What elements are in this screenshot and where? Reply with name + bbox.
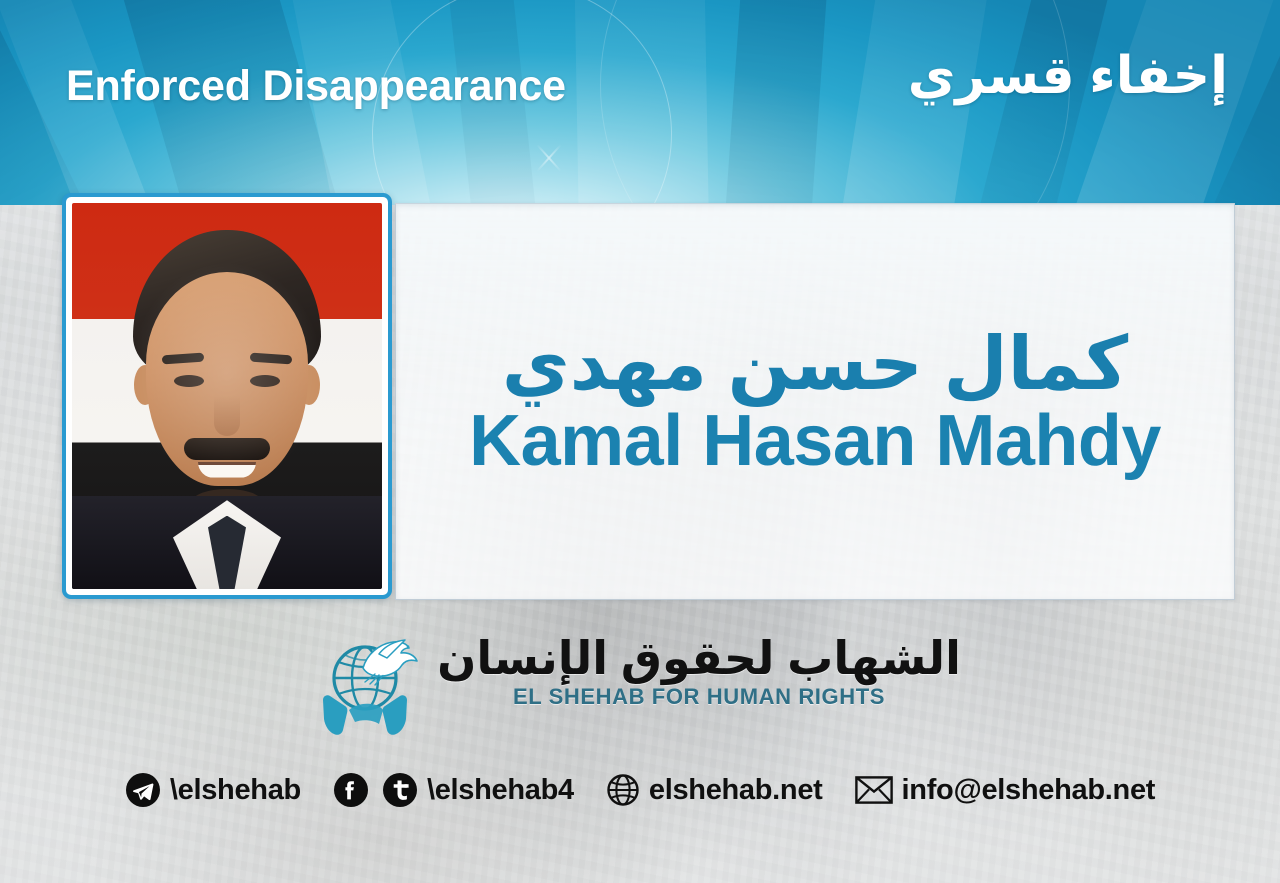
contact-website[interactable]: elshehab.net	[606, 773, 823, 807]
organization-emblem-icon	[319, 626, 423, 738]
globe-icon[interactable]	[606, 773, 640, 807]
contact-telegram-label: \elshehab	[170, 774, 301, 807]
contact-twitter-label: \elshehab4	[427, 774, 574, 807]
victim-name-english: Kamal Hasan Mahdy	[469, 405, 1161, 478]
contact-telegram[interactable]: \elshehab	[125, 772, 301, 808]
sparkle-icon	[530, 140, 566, 176]
victim-portrait-image	[72, 203, 382, 589]
banner-title-english: Enforced Disappearance	[66, 62, 566, 111]
contact-website-label: elshehab.net	[649, 774, 823, 807]
telegram-icon[interactable]	[125, 772, 161, 808]
victim-name-arabic: كمال حسن مهدي	[502, 325, 1128, 403]
victim-name-panel: كمال حسن مهدي Kamal Hasan Mahdy	[395, 203, 1235, 600]
organization-logo-block: الشهاب لحقوق الإنسان EL SHEHAB FOR HUMAN…	[0, 626, 1280, 738]
victim-photo-frame	[62, 193, 392, 599]
organization-name-group: الشهاب لحقوق الإنسان EL SHEHAB FOR HUMAN…	[437, 626, 961, 710]
portrait-glow	[72, 203, 382, 589]
contact-twitter[interactable]: \elshehab4	[382, 772, 574, 808]
contact-email[interactable]: info@elshehab.net	[855, 774, 1156, 807]
twitter-icon[interactable]	[382, 772, 418, 808]
facebook-icon[interactable]	[333, 772, 369, 808]
organization-name-arabic: الشهاب لحقوق الإنسان	[437, 634, 961, 682]
contact-bar: \elshehab \elshehab4	[0, 772, 1280, 808]
contact-email-label: info@elshehab.net	[902, 774, 1156, 807]
poster-root: Enforced Disappearance إخفاء قسري كمال ح…	[0, 0, 1280, 883]
organization-name-english: EL SHEHAB FOR HUMAN RIGHTS	[513, 684, 885, 710]
banner-title-arabic: إخفاء قسري	[908, 46, 1228, 106]
envelope-icon[interactable]	[855, 775, 893, 805]
top-banner: Enforced Disappearance إخفاء قسري	[0, 0, 1280, 205]
